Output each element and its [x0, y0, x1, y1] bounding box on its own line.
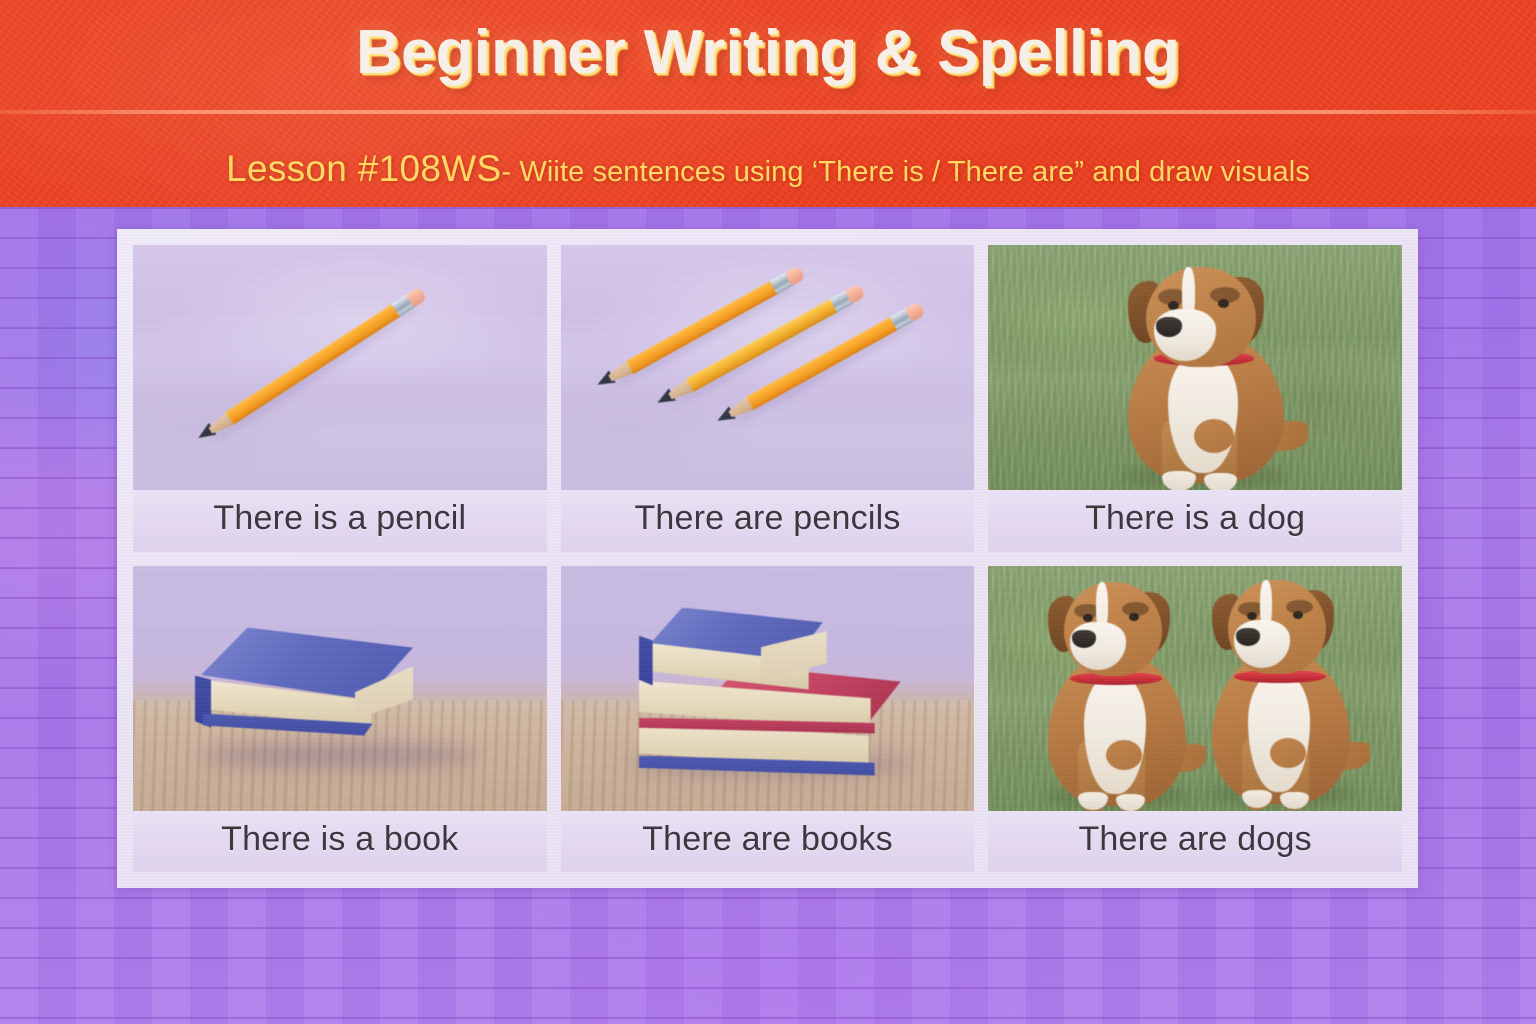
- three-pencils-photo: [561, 245, 975, 490]
- card-caption: There is a dog: [988, 490, 1402, 552]
- books-stack-object: [561, 566, 975, 811]
- content-panel: There is a pencil: [117, 229, 1418, 888]
- dog-nose: [1236, 628, 1260, 646]
- dog-figure: [1194, 574, 1370, 809]
- card-pencil-singular[interactable]: There is a pencil: [133, 245, 547, 552]
- card-dog-singular[interactable]: There is a dog: [988, 245, 1402, 552]
- lesson-description-label: - Wiite sentences using ‘There is / Ther…: [501, 156, 1309, 188]
- book-top-spine: [639, 636, 653, 686]
- lesson-number-label: Lesson #108WS: [226, 148, 501, 189]
- lesson-subtitle: Lesson #108WS- Wiite sentences using ‘Th…: [0, 148, 1536, 190]
- slide-header: Beginner Writing & Spelling Lesson #108W…: [0, 0, 1536, 207]
- card-caption: There are books: [561, 811, 975, 873]
- dog-chest-spot: [1270, 738, 1306, 768]
- stack-of-books-photo: [561, 566, 975, 811]
- card-caption: There are dogs: [988, 811, 1402, 873]
- desk-highlight: [133, 245, 547, 490]
- card-caption: There are pencils: [561, 490, 975, 552]
- single-book-photo: [133, 566, 547, 811]
- book-shadow: [199, 742, 480, 769]
- page-title: Beginner Writing & Spelling: [0, 17, 1536, 88]
- dog-paw-right: [1204, 473, 1237, 490]
- header-divider: [0, 110, 1536, 114]
- dog-paw-right: [1280, 792, 1309, 809]
- dog-eye-right: [1293, 611, 1303, 619]
- book-object: [133, 566, 547, 811]
- dog-eye-left: [1247, 612, 1257, 620]
- card-book-singular[interactable]: There is a book: [133, 566, 547, 873]
- dog-figure: [1030, 576, 1206, 811]
- card-pencils-plural[interactable]: There are pencils: [561, 245, 975, 552]
- card-caption: There is a pencil: [133, 490, 547, 552]
- card-dogs-plural[interactable]: There are dogs: [988, 566, 1402, 873]
- card-caption: There is a book: [133, 811, 547, 873]
- card-grid: There is a pencil: [133, 245, 1402, 872]
- single-dog-photo: [988, 245, 1402, 490]
- slide-root: Beginner Writing & Spelling Lesson #108W…: [0, 0, 1536, 1024]
- card-books-plural[interactable]: There are books: [561, 566, 975, 873]
- dog-chest-spot: [1106, 740, 1142, 770]
- dog-nose: [1072, 630, 1096, 648]
- dog-figure: [1106, 259, 1306, 490]
- single-pencil-photo: [133, 245, 547, 490]
- dog-eye-left: [1083, 614, 1093, 622]
- two-dogs-photo: [988, 566, 1402, 811]
- dog-paw-right: [1116, 794, 1145, 811]
- dog-eye-right: [1129, 613, 1139, 621]
